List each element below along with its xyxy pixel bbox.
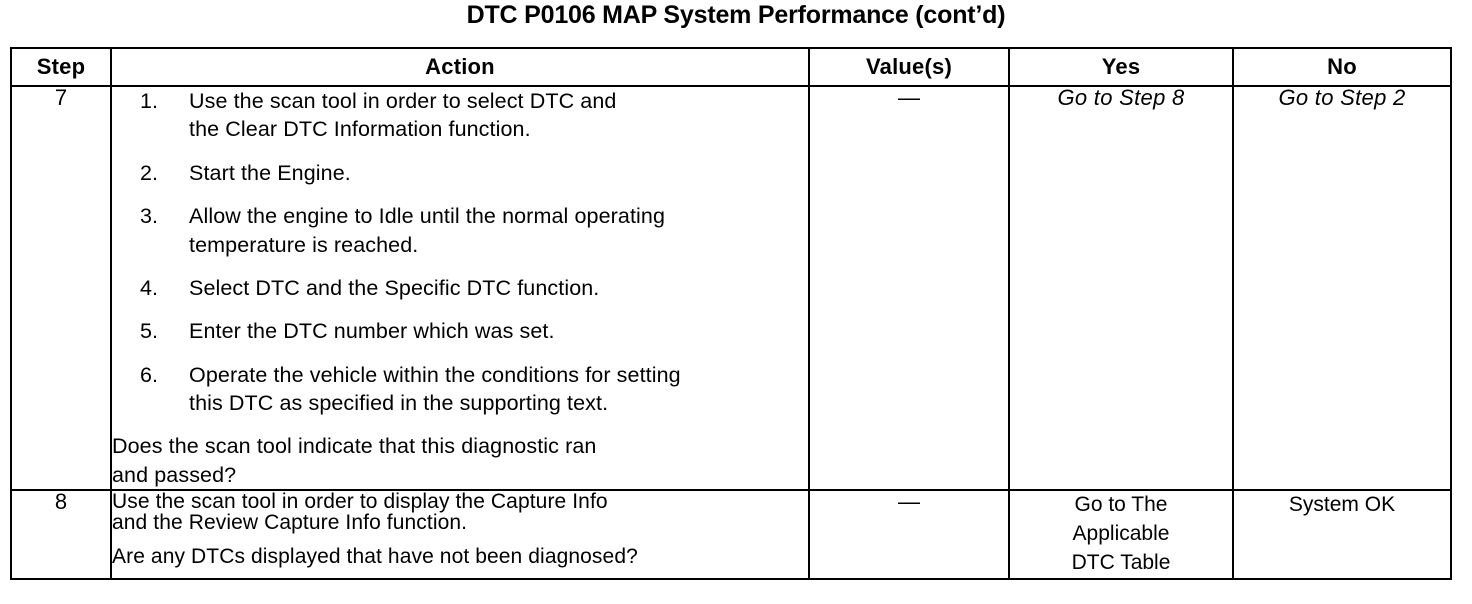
list-item-text: Start the Engine. bbox=[189, 159, 808, 187]
list-item-text: Enter the DTC number which was set. bbox=[189, 317, 808, 345]
list-item: 3. Allow the engine to Idle until the no… bbox=[112, 202, 808, 259]
value-cell: — bbox=[809, 490, 1009, 579]
yes-cell: Go to Step 8 bbox=[1009, 86, 1233, 490]
yes-action-line-2: Applicable bbox=[1073, 522, 1170, 545]
table-header-row: Step Action Value(s) Yes No bbox=[11, 48, 1451, 86]
document-page: DTC P0106 MAP System Performance (cont’d… bbox=[0, 0, 1472, 604]
list-item-number: 2. bbox=[140, 159, 170, 187]
list-item-text: Operate the vehicle within the condition… bbox=[189, 361, 808, 418]
action-question-line-2: and passed? bbox=[112, 461, 808, 489]
list-item-text: Select DTC and the Specific DTC function… bbox=[189, 274, 808, 302]
action-cell: Use the scan tool in order to display th… bbox=[111, 490, 809, 579]
yes-action-link[interactable]: Go to The Applicable DTC Table bbox=[1072, 493, 1171, 574]
action-question: Are any DTCs displayed that have not bee… bbox=[112, 546, 808, 567]
action-question: Does the scan tool indicate that this di… bbox=[112, 432, 808, 489]
list-item-text: Use the scan tool in order to select DTC… bbox=[189, 87, 808, 144]
action-cell: 1. Use the scan tool in order to select … bbox=[111, 86, 809, 490]
column-header-no: No bbox=[1233, 48, 1451, 86]
list-item: 5. Enter the DTC number which was set. bbox=[112, 317, 808, 345]
list-item: 1. Use the scan tool in order to select … bbox=[112, 87, 808, 144]
list-item-text: Allow the engine to Idle until the norma… bbox=[189, 202, 808, 259]
list-item: 2. Start the Engine. bbox=[112, 159, 808, 187]
action-step-list: 1. Use the scan tool in order to select … bbox=[112, 87, 808, 417]
list-item-line-1: Allow the engine to Idle until the norma… bbox=[189, 204, 665, 228]
column-header-yes: Yes bbox=[1009, 48, 1233, 86]
list-item-line-2: this DTC as specified in the supporting … bbox=[189, 389, 808, 417]
action-question-line-1: Does the scan tool indicate that this di… bbox=[112, 434, 596, 458]
value-cell: — bbox=[809, 86, 1009, 490]
list-item-line-1: Start the Engine. bbox=[189, 161, 351, 185]
action-instruction-line-2: and the Review Capture Info function. bbox=[112, 512, 808, 533]
page-title: DTC P0106 MAP System Performance (cont’d… bbox=[0, 1, 1472, 30]
list-item-number: 3. bbox=[140, 202, 170, 230]
list-item-number: 6. bbox=[140, 361, 170, 389]
yes-action-line-1: Go to The bbox=[1074, 493, 1167, 516]
list-item-line-2: the Clear DTC Information function. bbox=[189, 115, 808, 143]
no-action-result: System OK bbox=[1289, 493, 1395, 516]
list-item-line-1: Enter the DTC number which was set. bbox=[189, 319, 555, 343]
no-cell: System OK bbox=[1233, 490, 1451, 579]
action-instruction-line-1: Use the scan tool in order to display th… bbox=[112, 490, 608, 513]
yes-action-line-3: DTC Table bbox=[1072, 551, 1171, 574]
column-header-step: Step bbox=[11, 48, 111, 86]
list-item-line-1: Select DTC and the Specific DTC function… bbox=[189, 276, 599, 300]
list-item: 4. Select DTC and the Specific DTC funct… bbox=[112, 274, 808, 302]
step-number: 8 bbox=[55, 489, 67, 514]
step-number-cell: 8 bbox=[11, 490, 111, 579]
action-instruction: Use the scan tool in order to display th… bbox=[112, 491, 808, 533]
list-item-line-1: Use the scan tool in order to select DTC… bbox=[189, 89, 616, 113]
list-item-number: 1. bbox=[140, 87, 170, 115]
diagnostic-procedure-table: Step Action Value(s) Yes No 7 1. Use th bbox=[10, 47, 1452, 580]
step-number: 7 bbox=[55, 85, 67, 110]
no-cell: Go to Step 2 bbox=[1233, 86, 1451, 490]
yes-action-link[interactable]: Go to Step 8 bbox=[1057, 85, 1184, 110]
value-dash: — bbox=[898, 85, 920, 110]
table-row: 8 Use the scan tool in order to display … bbox=[11, 490, 1451, 579]
list-item-number: 4. bbox=[140, 274, 170, 302]
list-item-number: 5. bbox=[140, 317, 170, 345]
list-item-line-2: temperature is reached. bbox=[189, 231, 808, 259]
list-item: 6. Operate the vehicle within the condit… bbox=[112, 361, 808, 418]
list-item-line-1: Operate the vehicle within the condition… bbox=[189, 363, 681, 387]
step-number-cell: 7 bbox=[11, 86, 111, 490]
yes-cell: Go to The Applicable DTC Table bbox=[1009, 490, 1233, 579]
column-header-value: Value(s) bbox=[809, 48, 1009, 86]
table-row: 7 1. Use the scan tool in order to selec… bbox=[11, 86, 1451, 490]
column-header-action: Action bbox=[111, 48, 809, 86]
no-action-link[interactable]: Go to Step 2 bbox=[1278, 85, 1405, 110]
value-dash: — bbox=[898, 489, 920, 514]
